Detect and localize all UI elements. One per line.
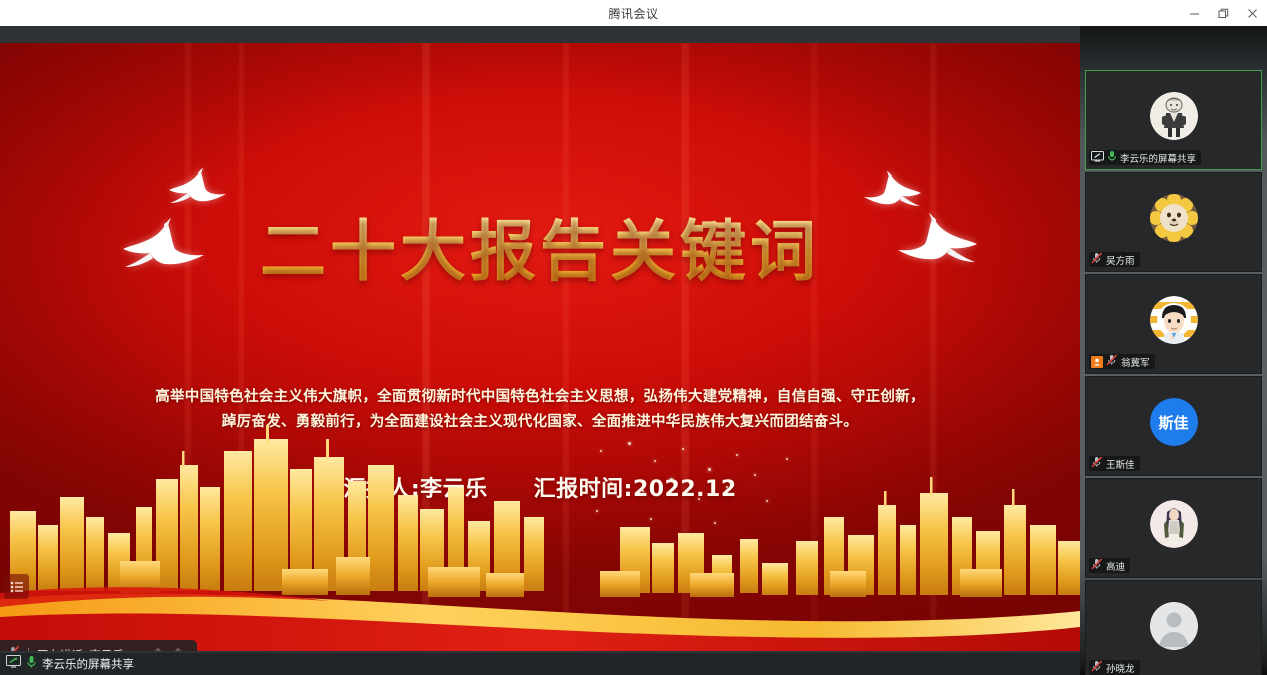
avatar xyxy=(1150,602,1198,650)
speaking-indicator: 正在讲话: 李云乐 xyxy=(0,640,197,651)
presentation-slide: 二十大报告关键词 高举中国特色社会主义伟大旗帜，全面贯彻新时代中国特色社会主义思… xyxy=(0,43,1080,651)
participant-label: 高迪 xyxy=(1089,558,1130,573)
mic-muted-icon xyxy=(1091,455,1103,473)
list-icon xyxy=(10,581,24,593)
participant-name: 翁冀军 xyxy=(1121,355,1150,369)
speaking-label: 正在讲话: 李云乐 xyxy=(37,647,124,651)
participant-tile[interactable]: 吴方雨 xyxy=(1085,172,1262,272)
avatar xyxy=(1150,194,1198,242)
host-badge xyxy=(1091,356,1103,368)
participant-name: 李云乐的屏幕共享 xyxy=(1120,151,1196,165)
participant-tile[interactable]: 斯佳 王斯佳 xyxy=(1085,376,1262,476)
avatar xyxy=(1150,296,1198,344)
participant-label: 李云乐的屏幕共享 xyxy=(1089,150,1201,165)
avatar xyxy=(1150,92,1198,140)
window-title: 腾讯会议 xyxy=(608,5,658,22)
participant-panel[interactable]: 李云乐的屏幕共享 xyxy=(1080,26,1267,675)
slide-body-line-1: 高举中国特色社会主义伟大旗帜，全面贯彻新时代中国特色社会主义思想，弘扬伟大建党精… xyxy=(150,385,930,410)
participant-tile[interactable]: 李云乐的屏幕共享 xyxy=(1085,70,1262,170)
city-skyline-graphic xyxy=(0,421,1080,651)
participant-name: 吴方雨 xyxy=(1106,253,1135,267)
avatar xyxy=(1150,500,1198,548)
avatar: 斯佳 xyxy=(1150,398,1198,446)
minimize-button[interactable] xyxy=(1180,0,1209,26)
participant-label: 孙晓龙 xyxy=(1089,660,1140,675)
mic-muted-icon xyxy=(1091,251,1103,269)
avatar-initials: 斯佳 xyxy=(1150,398,1198,446)
screen-share-label: 李云乐的屏幕共享 xyxy=(42,656,134,672)
participant-name: 孙晓龙 xyxy=(1106,661,1135,675)
close-button[interactable] xyxy=(1238,0,1267,26)
screen-share-icon xyxy=(6,655,21,673)
avatar-default-icon xyxy=(1150,602,1198,650)
mic-on-icon xyxy=(1107,149,1117,167)
pill-divider xyxy=(28,648,29,652)
mic-muted-icon xyxy=(1091,659,1103,675)
stage-top-strip xyxy=(0,26,1080,43)
app-shell: 二十大报告关键词 高举中国特色社会主义伟大旗帜，全面贯彻新时代中国特色社会主义思… xyxy=(0,26,1267,675)
mic-muted-icon xyxy=(1106,353,1118,371)
mic-on-icon xyxy=(26,655,37,674)
participant-tile[interactable]: 高迪 xyxy=(1085,478,1262,578)
slide-list-button[interactable] xyxy=(4,574,29,599)
mic-muted-icon xyxy=(1091,557,1103,575)
participant-name: 王斯佳 xyxy=(1106,457,1135,471)
meeting-logo-icon xyxy=(147,645,189,652)
slide-title: 二十大报告关键词 xyxy=(0,198,1080,294)
window-controls xyxy=(1180,0,1267,26)
shared-screen-stage[interactable]: 二十大报告关键词 高举中国特色社会主义伟大旗帜，全面贯彻新时代中国特色社会主义思… xyxy=(0,26,1080,675)
participant-tile[interactable]: 孙晓龙 xyxy=(1085,580,1262,675)
participant-label: 王斯佳 xyxy=(1089,456,1140,471)
window-titlebar: 腾讯会议 xyxy=(0,0,1267,26)
mic-muted-icon xyxy=(6,645,20,652)
restore-button[interactable] xyxy=(1209,0,1238,26)
participant-name: 高迪 xyxy=(1106,559,1125,573)
screen-share-status-bar: 李云乐的屏幕共享 xyxy=(0,653,1080,675)
screen-share-icon xyxy=(1091,149,1104,167)
participant-tile[interactable]: 翁冀军 xyxy=(1085,274,1262,374)
participant-label: 翁冀军 xyxy=(1089,354,1155,369)
participant-label: 吴方雨 xyxy=(1089,252,1140,267)
